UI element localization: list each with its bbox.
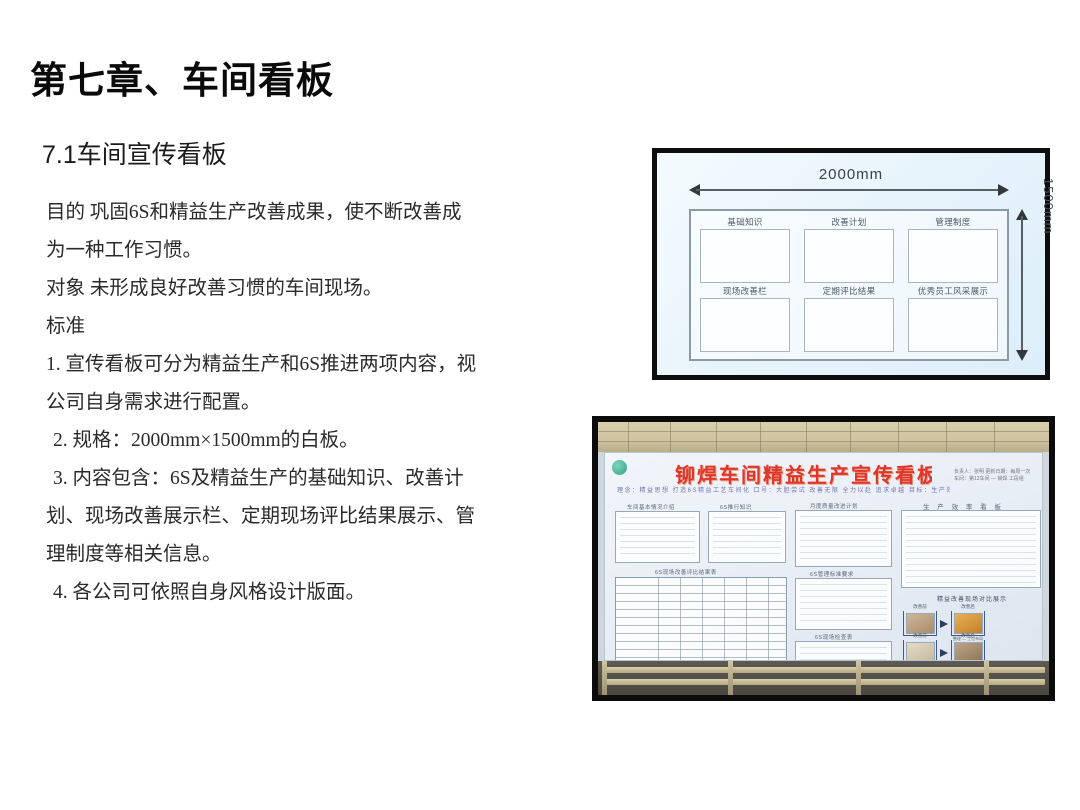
paragraph-purpose-1: 目的 巩固6S和精益生产改善成果，使不断改善成 [46,194,546,232]
cell-label: 现场改善栏 [723,285,767,298]
panel-ruling [800,647,887,661]
height-dimension [1021,209,1023,361]
rail-post [856,661,861,695]
cell-placeholder [700,298,790,352]
section-title: 7.1车间宣传看板 [42,135,227,171]
table-col-line [724,578,725,661]
wall-kanban-board: 铆焊车间精益生产宣传看板 理念：精益思想 打造6S精益工艺车间化 口号：大胆尝试… [604,452,1043,661]
photo-before: 改善前 [903,640,937,661]
board-banner-subtitle: 理念：精益思想 打造6S精益工艺车间化 口号：大胆尝试 改善无限 全力以赴 追求… [617,485,950,494]
board-row-bottom: 现场改善栏 定期评比结果 优秀员工风采展示 [697,285,1001,354]
paragraph-standard-1a: 1. 宣传看板可分为精益生产和6S推进两项内容，视 [46,346,546,384]
photo-after: 改善后 整顿 — 工具定置 [951,640,985,661]
cell-placeholder [908,229,998,283]
cell-placeholder [804,229,894,283]
board-cell-evaluation-results: 定期评比结果 [801,285,897,354]
board-banner-meta: 负责人：张明 更新日期：每周一次 车间：第12车间 — 铆焊 工段组 [954,469,1034,483]
ceiling-grid-line [760,422,761,452]
photo-caption: 改善后 [952,604,984,610]
ceiling-grid-line [994,422,995,452]
width-dimension-label: 2000mm [657,166,1045,183]
rail-post [602,661,607,695]
ceiling-panels [598,422,1049,452]
diagram-canvas: 2000mm 1500mm 基础知识 改善计划 [657,153,1045,375]
whiteboard-outline: 基础知识 改善计划 管理制度 现场改善栏 [689,209,1009,361]
table-col-line [702,578,703,661]
cell-label: 定期评比结果 [823,285,876,298]
photo-caption: 改善前 [904,633,936,639]
cell-label: 改善计划 [831,216,866,229]
panel-label: 月度质量改进计划 [810,502,858,510]
company-logo-icon [612,460,627,475]
cell-label: 优秀员工风采展示 [918,285,988,298]
photo-canvas: 铆焊车间精益生产宣传看板 理念：精益思想 打造6S精益工艺车间化 口号：大胆尝试… [598,422,1049,695]
panel-intro [615,511,700,563]
paragraph-target: 对象 未形成良好改善习惯的车间现场。 [46,270,546,308]
board-row-top: 基础知识 改善计划 管理制度 [697,216,1001,285]
ceiling-grid-line [628,422,629,452]
panel-label: 6S现场检查表 [815,633,853,641]
paragraph-standard-3c: 理制度等相关信息。 [46,536,546,574]
panel-label: 车间基本情况介绍 [627,503,675,511]
table-label: 6S现场改善评比结果表 [655,568,717,576]
board-cell-improvement-plan: 改善计划 [801,216,897,285]
panel-label: 6S推行知识 [720,503,752,511]
panel-ruling [906,516,1036,583]
board-banner-title: 铆焊车间精益生产宣传看板 [675,459,932,488]
table-col-line [768,578,769,661]
paragraph-standard-heading: 标准 [46,308,546,346]
board-cell-management-system: 管理制度 [905,216,1001,285]
paragraph-purpose-2: 为一种工作习惯。 [46,232,546,270]
arrow-down-icon [1016,350,1028,361]
kaizen-section-title: 精益改善现场对比展示 [937,594,1007,603]
cell-placeholder [804,298,894,352]
slide-root: 第七章、车间看板 7.1车间宣传看板 目的 巩固6S和精益生产改善成果，使不断改… [0,0,1080,810]
paragraph-standard-3a: 3. 内容包含：6S及精益生产的基础知识、改善计 [46,460,546,498]
height-dimension-label: 1500mm [1042,178,1057,235]
table-col-line [746,578,747,661]
photo-thumb [954,613,983,634]
cell-label: 基础知识 [727,216,762,229]
rail-post [984,661,989,695]
panel-ruling [800,516,887,562]
dimension-line [696,189,1002,191]
cell-placeholder [700,229,790,283]
paragraph-standard-4: 4. 各公司可依照自身风格设计版面。 [46,574,546,612]
dimension-line-vertical [1021,216,1023,354]
photo-caption: 改善后 [952,633,984,639]
kaizen-pairs-grid: 改善前 改善后 整理 — 工位布局 改善前 [903,611,1043,661]
kaizen-pair: 改善前 改善后 整顿 — 工具定置 [903,640,985,661]
page-title: 第七章、车间看板 [30,50,334,104]
rail-bar [602,679,1045,685]
panel-label: 6S管理标准要求 [810,570,854,578]
panel-6s-standard [795,578,892,630]
photo-thumb [954,642,983,662]
photo-caption: 改善前 [904,604,936,610]
ceiling-grid-line [898,422,899,452]
board-cell-site-improvement: 现场改善栏 [697,285,793,354]
arrow-right-icon [940,620,948,628]
panel-6s-checklist [795,641,892,661]
board-cell-basics: 基础知识 [697,216,793,285]
arrow-right-icon [940,649,948,657]
ceiling-grid-line [946,422,947,452]
photo-thumb [906,642,935,662]
kanban-photograph: 铆焊车间精益生产宣传看板 理念：精益思想 打造6S精益工艺车间化 口号：大胆尝试… [592,416,1055,701]
panel-efficiency-chart [901,510,1041,588]
paragraph-standard-3b: 划、现场改善展示栏、定期现场评比结果展示、管 [46,498,546,536]
arrow-right-icon [998,184,1009,196]
ceiling-grid-line [670,422,671,452]
paragraph-standard-2: 2. 规格：2000mm×1500mm的白板。 [46,422,546,460]
ceiling-grid-line [716,422,717,452]
board-cell-excellent-staff: 优秀员工风采展示 [905,285,1001,354]
table-col-line [680,578,681,661]
ceiling-grid-line [598,441,1049,442]
cell-label: 管理制度 [935,216,970,229]
table-row-lines [616,578,786,661]
panel-ruling [620,517,695,558]
ceiling-grid-line [598,431,1049,432]
panel-ruling [713,517,781,558]
rail-post [728,661,733,695]
rail-bar [602,667,1045,673]
panel-quality-plan [795,510,892,567]
evaluation-table: 注：每月评比得分排名前三者奖励￥200/人；红色 表示未达标；黄色 达标 [615,577,787,661]
ceiling-grid-line [850,422,851,452]
kanban-layout-diagram: 2000mm 1500mm 基础知识 改善计划 [652,148,1050,380]
ceiling-grid-line [806,422,807,452]
cell-placeholder [908,298,998,352]
photo-thumb [906,613,935,634]
body-text: 目的 巩固6S和精益生产改善成果，使不断改善成 为一种工作习惯。 对象 未形成良… [46,194,546,612]
width-dimension [689,189,1009,191]
panel-6s-knowledge [708,511,786,563]
guard-rail [598,661,1049,695]
paragraph-standard-1b: 公司自身需求进行配置。 [46,384,546,422]
panel-ruling [800,584,887,625]
table-col-line [658,578,659,661]
